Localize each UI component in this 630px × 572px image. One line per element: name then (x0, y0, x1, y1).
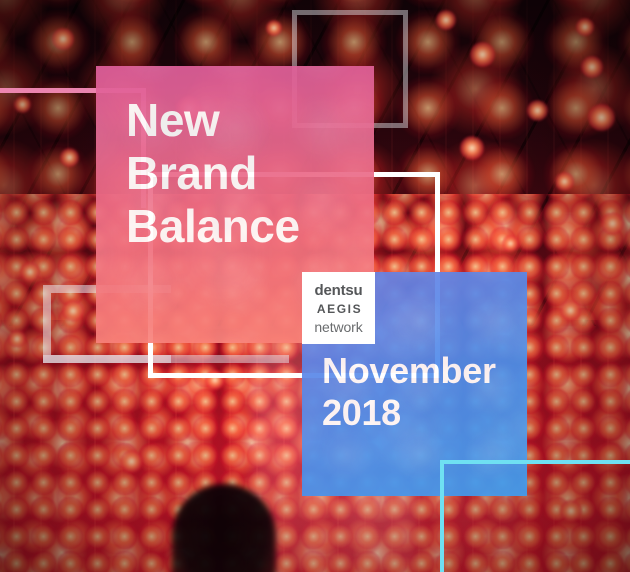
cyan-corner-frame-bottom-right (440, 460, 630, 572)
logo-line-aegis: AEGIS (315, 300, 362, 318)
dentsu-aegis-network-logo: dentsu AEGIS network (302, 272, 375, 344)
logo-line-dentsu: dentsu (315, 281, 363, 300)
logo-line-network: network (314, 318, 362, 337)
date-label: November 2018 (322, 350, 521, 434)
title-slide: New Brand Balance November 2018 dentsu A… (0, 0, 630, 572)
page-title: New Brand Balance (126, 94, 366, 253)
